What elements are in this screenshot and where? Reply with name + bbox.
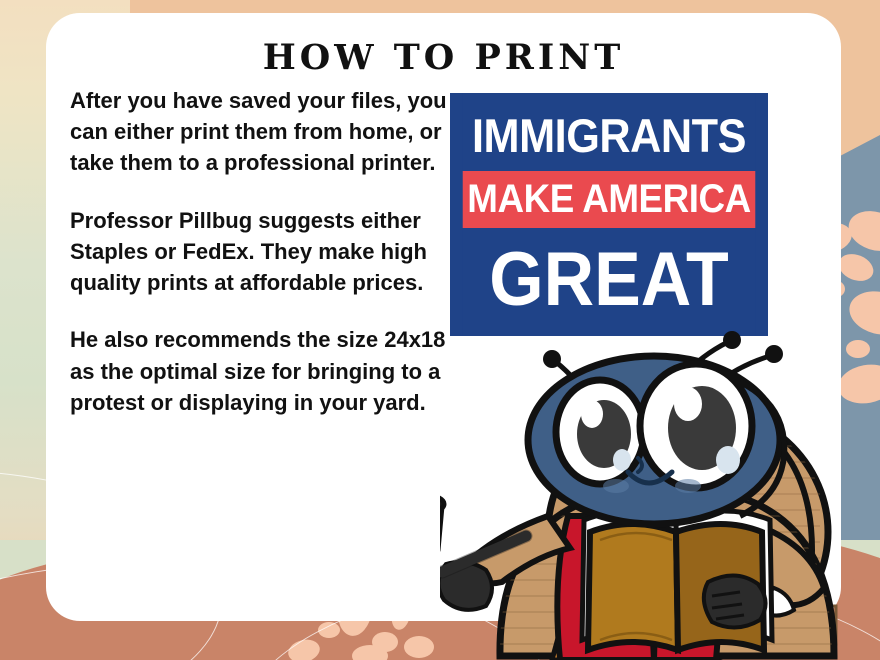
slide-canvas: HOW TO PRINT After you have saved your f… [0, 0, 880, 660]
glove-right [704, 575, 766, 627]
professor-pillbug-illustration [440, 320, 880, 660]
paragraph-1: After you have saved your files, you can… [70, 85, 450, 179]
poster-image: IMMIGRANTS MAKE AMERICA GREAT [450, 93, 768, 336]
poster-line-2: MAKE AMERICA [463, 171, 756, 228]
book-cover-left [588, 524, 678, 650]
antenna-left-tip [543, 350, 561, 368]
eye-highlight-left [581, 400, 603, 428]
antenna-right-2-tip [765, 345, 783, 363]
paragraph-2: Professor Pillbug suggests either Staple… [70, 205, 450, 299]
eye-highlight-right [674, 387, 702, 421]
eye-glint-left [613, 449, 631, 471]
paragraph-3: He also recommends the size 24x18 as the… [70, 324, 450, 418]
antenna-right-tip [723, 331, 741, 349]
poster-line-1: IMMIGRANTS [463, 93, 756, 171]
cheek-left [603, 479, 629, 493]
book-spine [676, 532, 678, 650]
cheek-right [675, 479, 701, 493]
eye-glint-right [716, 446, 740, 474]
body-text-column: After you have saved your files, you can… [70, 85, 450, 418]
page-title: HOW TO PRINT [46, 37, 841, 78]
